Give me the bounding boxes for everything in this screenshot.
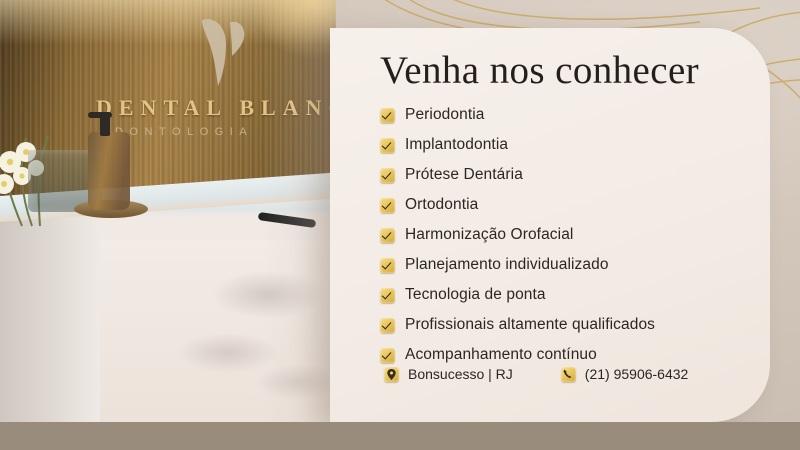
- list-item: Ortodontia: [380, 190, 752, 220]
- location-text: Bonsucesso | RJ: [408, 366, 513, 382]
- list-item-label: Implantodontia: [405, 136, 508, 154]
- list-item: Harmonização Orofacial: [380, 220, 752, 250]
- phone-icon: [561, 367, 576, 382]
- check-icon: [380, 198, 395, 213]
- list-item-label: Tecnologia de ponta: [405, 286, 546, 304]
- list-item-label: Periodontia: [405, 106, 485, 124]
- list-item: Planejamento individualizado: [380, 250, 752, 280]
- list-item: Periodontia: [380, 100, 752, 130]
- clinic-reception-photo: DENTAL BLANC ODONTOLOGIA: [0, 0, 336, 422]
- services-list: Periodontia Implantodontia Prótese Dentá…: [380, 100, 752, 370]
- list-item-label: Profissionais altamente qualificados: [405, 316, 655, 334]
- page-title: Venha nos conhecer: [380, 48, 699, 93]
- list-item: Prótese Dentária: [380, 160, 752, 190]
- list-item: Profissionais altamente qualificados: [380, 310, 752, 340]
- map-pin-icon: [384, 367, 399, 382]
- list-item-label: Prótese Dentária: [405, 166, 523, 184]
- check-icon: [380, 108, 395, 123]
- list-item: Tecnologia de ponta: [380, 280, 752, 310]
- check-icon: [380, 228, 395, 243]
- check-icon: [380, 318, 395, 333]
- poster-canvas: DENTAL BLANC ODONTOLOGIA: [0, 0, 800, 450]
- phone-text: (21) 95906-6432: [585, 366, 689, 382]
- check-icon: [380, 138, 395, 153]
- list-item-label: Harmonização Orofacial: [405, 226, 573, 244]
- info-card: Venha nos conhecer Periodontia Implantod…: [330, 28, 770, 422]
- list-item: Implantodontia: [380, 130, 752, 160]
- check-icon: [380, 288, 395, 303]
- check-icon: [380, 258, 395, 273]
- list-item-label: Ortodontia: [405, 196, 478, 214]
- location-info: Bonsucesso | RJ: [384, 366, 513, 382]
- phone-info: (21) 95906-6432: [561, 366, 689, 382]
- photo-edge-fade: [0, 0, 336, 422]
- check-icon: [380, 168, 395, 183]
- check-icon: [380, 348, 395, 363]
- list-item-label: Planejamento individualizado: [405, 256, 609, 274]
- card-footer: Bonsucesso | RJ (21) 95906-6432: [384, 366, 764, 382]
- bottom-bar: [0, 422, 800, 450]
- list-item-label: Acompanhamento contínuo: [405, 346, 597, 364]
